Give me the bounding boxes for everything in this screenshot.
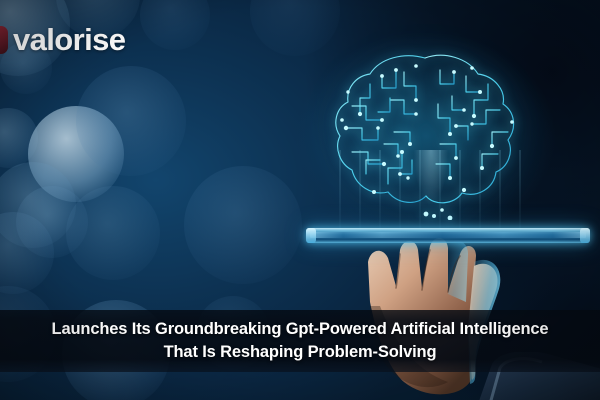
- valorise-logo-mark-icon: [0, 26, 8, 54]
- promo-banner: valorise Launches Its Groundbreaking Gpt…: [0, 0, 600, 400]
- caption-band: Launches Its Groundbreaking Gpt-Powered …: [0, 310, 600, 372]
- brand-logo[interactable]: valorise: [0, 24, 125, 55]
- caption-line-2: That Is Reshaping Problem-Solving: [164, 341, 437, 364]
- circuit-board-brain-icon: [322, 48, 532, 220]
- caption-line-1: Launches Its Groundbreaking Gpt-Powered …: [52, 318, 549, 341]
- brand-name: valorise: [13, 24, 125, 55]
- glowing-tablet-icon: [306, 228, 590, 243]
